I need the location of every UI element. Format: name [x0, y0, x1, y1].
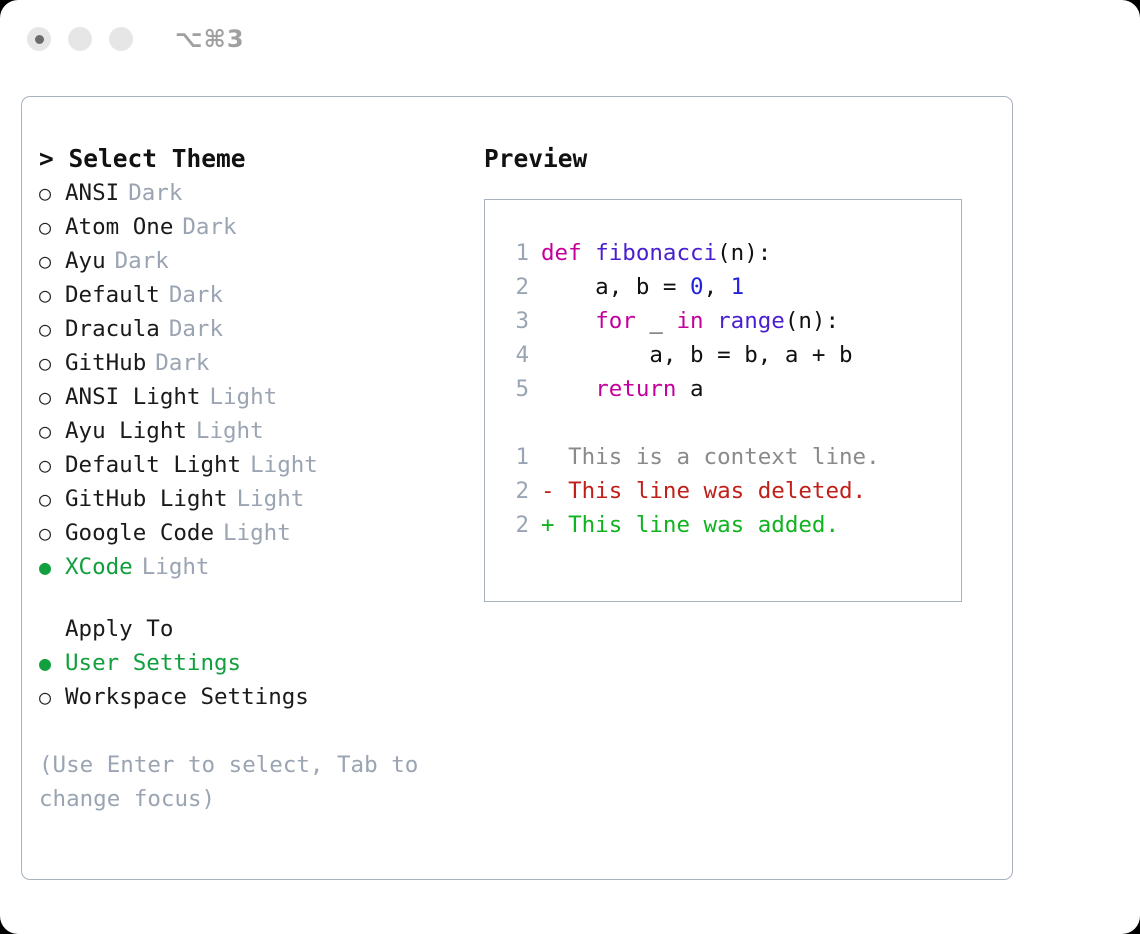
diff-sign-del: - [541, 474, 555, 508]
theme-option-label: Ayu [65, 244, 106, 278]
traffic-light-group [27, 27, 133, 51]
diff-line-number: 1 [499, 440, 529, 474]
code-sample: 1def fibonacci(n):2 a, b = 0, 13 for _ i… [499, 236, 961, 406]
panel-columns: > Select Theme ○ANSIDark○Atom OneDark○Ay… [22, 97, 1012, 816]
theme-option-google-code[interactable]: ○Google CodeLight [39, 516, 484, 550]
theme-option-variant: Light [209, 380, 277, 414]
radio-unselected-icon: ○ [39, 278, 65, 312]
code-token-kw: for [595, 308, 636, 334]
code-token-txt: a [676, 376, 703, 402]
code-token-num: 0 [690, 274, 704, 300]
preview-box: 1def fibonacci(n):2 a, b = 0, 13 for _ i… [484, 199, 962, 602]
theme-option-default[interactable]: ○DefaultDark [39, 278, 484, 312]
theme-option-atom-one[interactable]: ○Atom OneDark [39, 210, 484, 244]
theme-option-label: Ayu Light [65, 414, 187, 448]
zoom-button[interactable] [109, 27, 133, 51]
code-token-txt [704, 308, 718, 334]
apply-to-heading: Apply To [39, 612, 484, 646]
code-token-txt: a, b = [541, 274, 690, 300]
apply-to-option-label: User Settings [65, 646, 241, 680]
theme-option-variant: Light [250, 448, 318, 482]
code-line: 2 a, b = 0, 1 [499, 270, 961, 304]
theme-option-github[interactable]: ○GitHubDark [39, 346, 484, 380]
code-line-content: a, b = b, a + b [541, 338, 853, 372]
radio-unselected-icon: ○ [39, 482, 65, 516]
radio-unselected-icon: ○ [39, 210, 65, 244]
close-icon [35, 35, 44, 44]
radio-unselected-icon: ○ [39, 346, 65, 380]
theme-option-default-light[interactable]: ○Default LightLight [39, 448, 484, 482]
theme-option-ansi-light[interactable]: ○ANSI LightLight [39, 380, 484, 414]
code-line-number: 5 [499, 372, 529, 406]
preview-column: Preview 1def fibonacci(n):2 a, b = 0, 13… [484, 142, 1012, 816]
theme-option-label: ANSI [65, 176, 119, 210]
apply-to-option-workspace-settings[interactable]: ○Workspace Settings [39, 680, 484, 714]
theme-option-label: Default Light [65, 448, 241, 482]
radio-selected-icon: ● [39, 646, 65, 680]
code-token-txt [541, 376, 595, 402]
close-button[interactable] [27, 27, 51, 51]
code-token-txt: (n): [717, 240, 771, 266]
code-line-content: return a [541, 372, 704, 406]
code-line: 5 return a [499, 372, 961, 406]
theme-option-variant: Dark [128, 176, 182, 210]
diff-line-del: 2- This line was deleted. [499, 474, 961, 508]
diff-line-content: This is a context line. [555, 440, 880, 474]
theme-list: ○ANSIDark○Atom OneDark○AyuDark○DefaultDa… [39, 176, 484, 584]
code-line-number: 1 [499, 236, 529, 270]
code-token-txt: a, b = b, a + b [541, 342, 853, 368]
diff-line-content: This line was added. [555, 508, 839, 542]
code-line-number: 4 [499, 338, 529, 372]
radio-unselected-icon: ○ [39, 312, 65, 346]
theme-option-ansi[interactable]: ○ANSIDark [39, 176, 484, 210]
app-window: ⌥⌘3 > Select Theme ○ANSIDark○Atom OneDar… [0, 0, 1140, 934]
theme-option-variant: Dark [169, 278, 223, 312]
code-token-txt: (n): [785, 308, 839, 334]
theme-option-xcode[interactable]: ●XCodeLight [39, 550, 484, 584]
apply-to-option-user-settings[interactable]: ●User Settings [39, 646, 484, 680]
theme-option-label: Default [65, 278, 160, 312]
main-panel: > Select Theme ○ANSIDark○Atom OneDark○Ay… [21, 96, 1013, 880]
theme-option-dracula[interactable]: ○DraculaDark [39, 312, 484, 346]
title-bar: ⌥⌘3 [0, 0, 1140, 78]
code-line-content: a, b = 0, 1 [541, 270, 744, 304]
radio-unselected-icon: ○ [39, 414, 65, 448]
code-token-num: 1 [731, 274, 745, 300]
theme-picker-column: > Select Theme ○ANSIDark○Atom OneDark○Ay… [22, 142, 484, 816]
code-token-kw: return [595, 376, 676, 402]
minimize-button[interactable] [68, 27, 92, 51]
window-shortcut-label: ⌥⌘3 [175, 25, 245, 53]
theme-option-variant: Dark [169, 312, 223, 346]
code-line: 4 a, b = b, a + b [499, 338, 961, 372]
diff-line-ctx: 1 This is a context line. [499, 440, 961, 474]
code-line-number: 2 [499, 270, 529, 304]
code-line-content: for _ in range(n): [541, 304, 839, 338]
diff-line-content: This line was deleted. [555, 474, 867, 508]
code-line-content: def fibonacci(n): [541, 236, 771, 270]
theme-option-label: XCode [65, 550, 133, 584]
diff-line-number: 2 [499, 508, 529, 542]
diff-sign-ctx [541, 440, 555, 474]
theme-option-label: GitHub [65, 346, 146, 380]
apply-to-list: ●User Settings○Workspace Settings [39, 646, 484, 714]
theme-option-variant: Light [196, 414, 264, 448]
code-token-kw: def [541, 240, 595, 266]
keyboard-hint-text: (Use Enter to select, Tab to change focu… [39, 748, 439, 816]
select-theme-heading: > Select Theme [39, 142, 484, 176]
theme-option-variant: Dark [155, 346, 209, 380]
code-line: 3 for _ in range(n): [499, 304, 961, 338]
radio-unselected-icon: ○ [39, 448, 65, 482]
theme-option-label: Dracula [65, 312, 160, 346]
theme-option-label: Google Code [65, 516, 214, 550]
theme-option-variant: Light [237, 482, 305, 516]
theme-option-ayu-light[interactable]: ○Ayu LightLight [39, 414, 484, 448]
theme-option-ayu[interactable]: ○AyuDark [39, 244, 484, 278]
apply-to-option-label: Workspace Settings [65, 680, 309, 714]
theme-option-variant: Dark [115, 244, 169, 278]
theme-option-variant: Dark [182, 210, 236, 244]
code-token-fn: range [717, 308, 785, 334]
radio-unselected-icon: ○ [39, 680, 65, 714]
code-token-txt [541, 308, 595, 334]
theme-option-label: GitHub Light [65, 482, 228, 516]
code-line-number: 3 [499, 304, 529, 338]
code-token-txt: _ [636, 308, 677, 334]
radio-unselected-icon: ○ [39, 516, 65, 550]
diff-sample: 1 This is a context line.2- This line wa… [499, 440, 961, 542]
diff-sign-add: + [541, 508, 555, 542]
theme-option-label: Atom One [65, 210, 173, 244]
diff-line-add: 2+ This line was added. [499, 508, 961, 542]
code-token-txt: , [704, 274, 731, 300]
code-diff-spacer [499, 406, 961, 440]
code-line: 1def fibonacci(n): [499, 236, 961, 270]
diff-line-number: 2 [499, 474, 529, 508]
preview-heading: Preview [484, 142, 1012, 176]
radio-unselected-icon: ○ [39, 380, 65, 414]
code-token-fn: fibonacci [595, 240, 717, 266]
radio-unselected-icon: ○ [39, 176, 65, 210]
theme-option-variant: Light [223, 516, 291, 550]
radio-selected-icon: ● [39, 550, 65, 584]
code-token-kw: in [676, 308, 703, 334]
theme-option-variant: Light [142, 550, 210, 584]
theme-option-label: ANSI Light [65, 380, 200, 414]
theme-option-github-light[interactable]: ○GitHub LightLight [39, 482, 484, 516]
radio-unselected-icon: ○ [39, 244, 65, 278]
